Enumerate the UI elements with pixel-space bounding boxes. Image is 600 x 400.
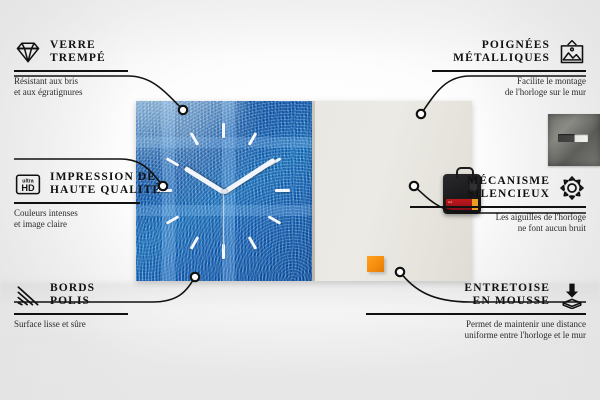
gear-icon bbox=[558, 174, 586, 202]
feature-subtitle-line2: ne font aucun bruit bbox=[376, 223, 586, 234]
diamond-icon bbox=[14, 38, 42, 66]
feature-title: BORDS POLIS bbox=[50, 282, 95, 309]
feature-verre-trempe[interactable]: VERRE TREMPÉ Résistant aux bris et aux é… bbox=[14, 38, 204, 98]
feature-header: ultra HD IMPRESSION DE HAUTE QUALITÉ bbox=[14, 170, 214, 198]
divider bbox=[14, 70, 128, 72]
clock-center-pin bbox=[222, 189, 227, 194]
hour-marker-5 bbox=[248, 236, 258, 250]
feature-subtitle-line1: Couleurs intenses bbox=[14, 208, 214, 219]
feature-subtitle-line1: Permet de maintenir une distance bbox=[366, 319, 586, 330]
feature-title: POIGNÉES MÉTALLIQUES bbox=[453, 39, 550, 66]
hanger-slot bbox=[558, 134, 588, 142]
hour-marker-12 bbox=[222, 123, 225, 138]
divider bbox=[14, 202, 140, 204]
hour-marker-4 bbox=[268, 215, 282, 225]
feature-title: VERRE TREMPÉ bbox=[50, 39, 106, 66]
panel-seam bbox=[312, 101, 315, 281]
svg-text:HD: HD bbox=[21, 183, 35, 193]
feature-subtitle-line2: uniforme entre l'horloge et le mur bbox=[366, 330, 586, 341]
divider bbox=[410, 206, 586, 208]
feature-entretoise-en-mousse[interactable]: ENTRETOISE EN MOUSSE Permet de maintenir… bbox=[366, 281, 586, 341]
feature-header: POIGNÉES MÉTALLIQUES bbox=[386, 38, 586, 66]
divider bbox=[366, 313, 586, 315]
feature-header: BORDS POLIS bbox=[14, 281, 204, 309]
feature-subtitle-line1: Les aiguilles de l'horloge bbox=[376, 212, 586, 223]
picture-frame-hanger-icon bbox=[558, 38, 586, 66]
feature-mecanisme-silencieux[interactable]: MÉCANISME SILENCIEUX Les aiguilles de l'… bbox=[376, 174, 586, 234]
foam-spacer bbox=[367, 256, 384, 272]
divider bbox=[432, 70, 586, 72]
metal-hanger-plate bbox=[548, 114, 600, 166]
infographic-canvas: AA bbox=[0, 0, 600, 400]
polished-edge-icon bbox=[14, 281, 42, 309]
feature-subtitle-line2: et aux égratignures bbox=[14, 87, 204, 98]
ultra-hd-icon: ultra HD bbox=[14, 170, 42, 198]
feature-title: IMPRESSION DE HAUTE QUALITÉ bbox=[50, 171, 161, 198]
hour-marker-3 bbox=[275, 189, 290, 192]
feature-bords-polis[interactable]: BORDS POLIS Surface lisse et sûre bbox=[14, 281, 204, 330]
feature-poignees-metalliques[interactable]: POIGNÉES MÉTALLIQUES Facilite le montage… bbox=[386, 38, 586, 98]
feature-impression-haute-qualite[interactable]: ultra HD IMPRESSION DE HAUTE QUALITÉ Cou… bbox=[14, 170, 214, 230]
feature-subtitle-line2: et image claire bbox=[14, 219, 214, 230]
feature-title: MÉCANISME SILENCIEUX bbox=[467, 175, 550, 202]
divider bbox=[14, 313, 128, 315]
clock-second-hand bbox=[223, 191, 224, 249]
feature-header: MÉCANISME SILENCIEUX bbox=[376, 174, 586, 202]
feature-subtitle-line1: Résistant aux bris bbox=[14, 76, 204, 87]
feature-subtitle-line1: Surface lisse et sûre bbox=[14, 319, 204, 330]
feature-title: ENTRETOISE EN MOUSSE bbox=[464, 282, 550, 309]
feature-header: VERRE TREMPÉ bbox=[14, 38, 204, 66]
feature-subtitle-line2: de l'horloge sur le mur bbox=[386, 87, 586, 98]
feature-subtitle-line1: Facilite le montage bbox=[386, 76, 586, 87]
feature-header: ENTRETOISE EN MOUSSE bbox=[366, 281, 586, 309]
foam-spacer-arrow-icon bbox=[558, 281, 586, 309]
glass-band-horizontal-top bbox=[136, 137, 312, 148]
hour-marker-7 bbox=[190, 236, 200, 250]
